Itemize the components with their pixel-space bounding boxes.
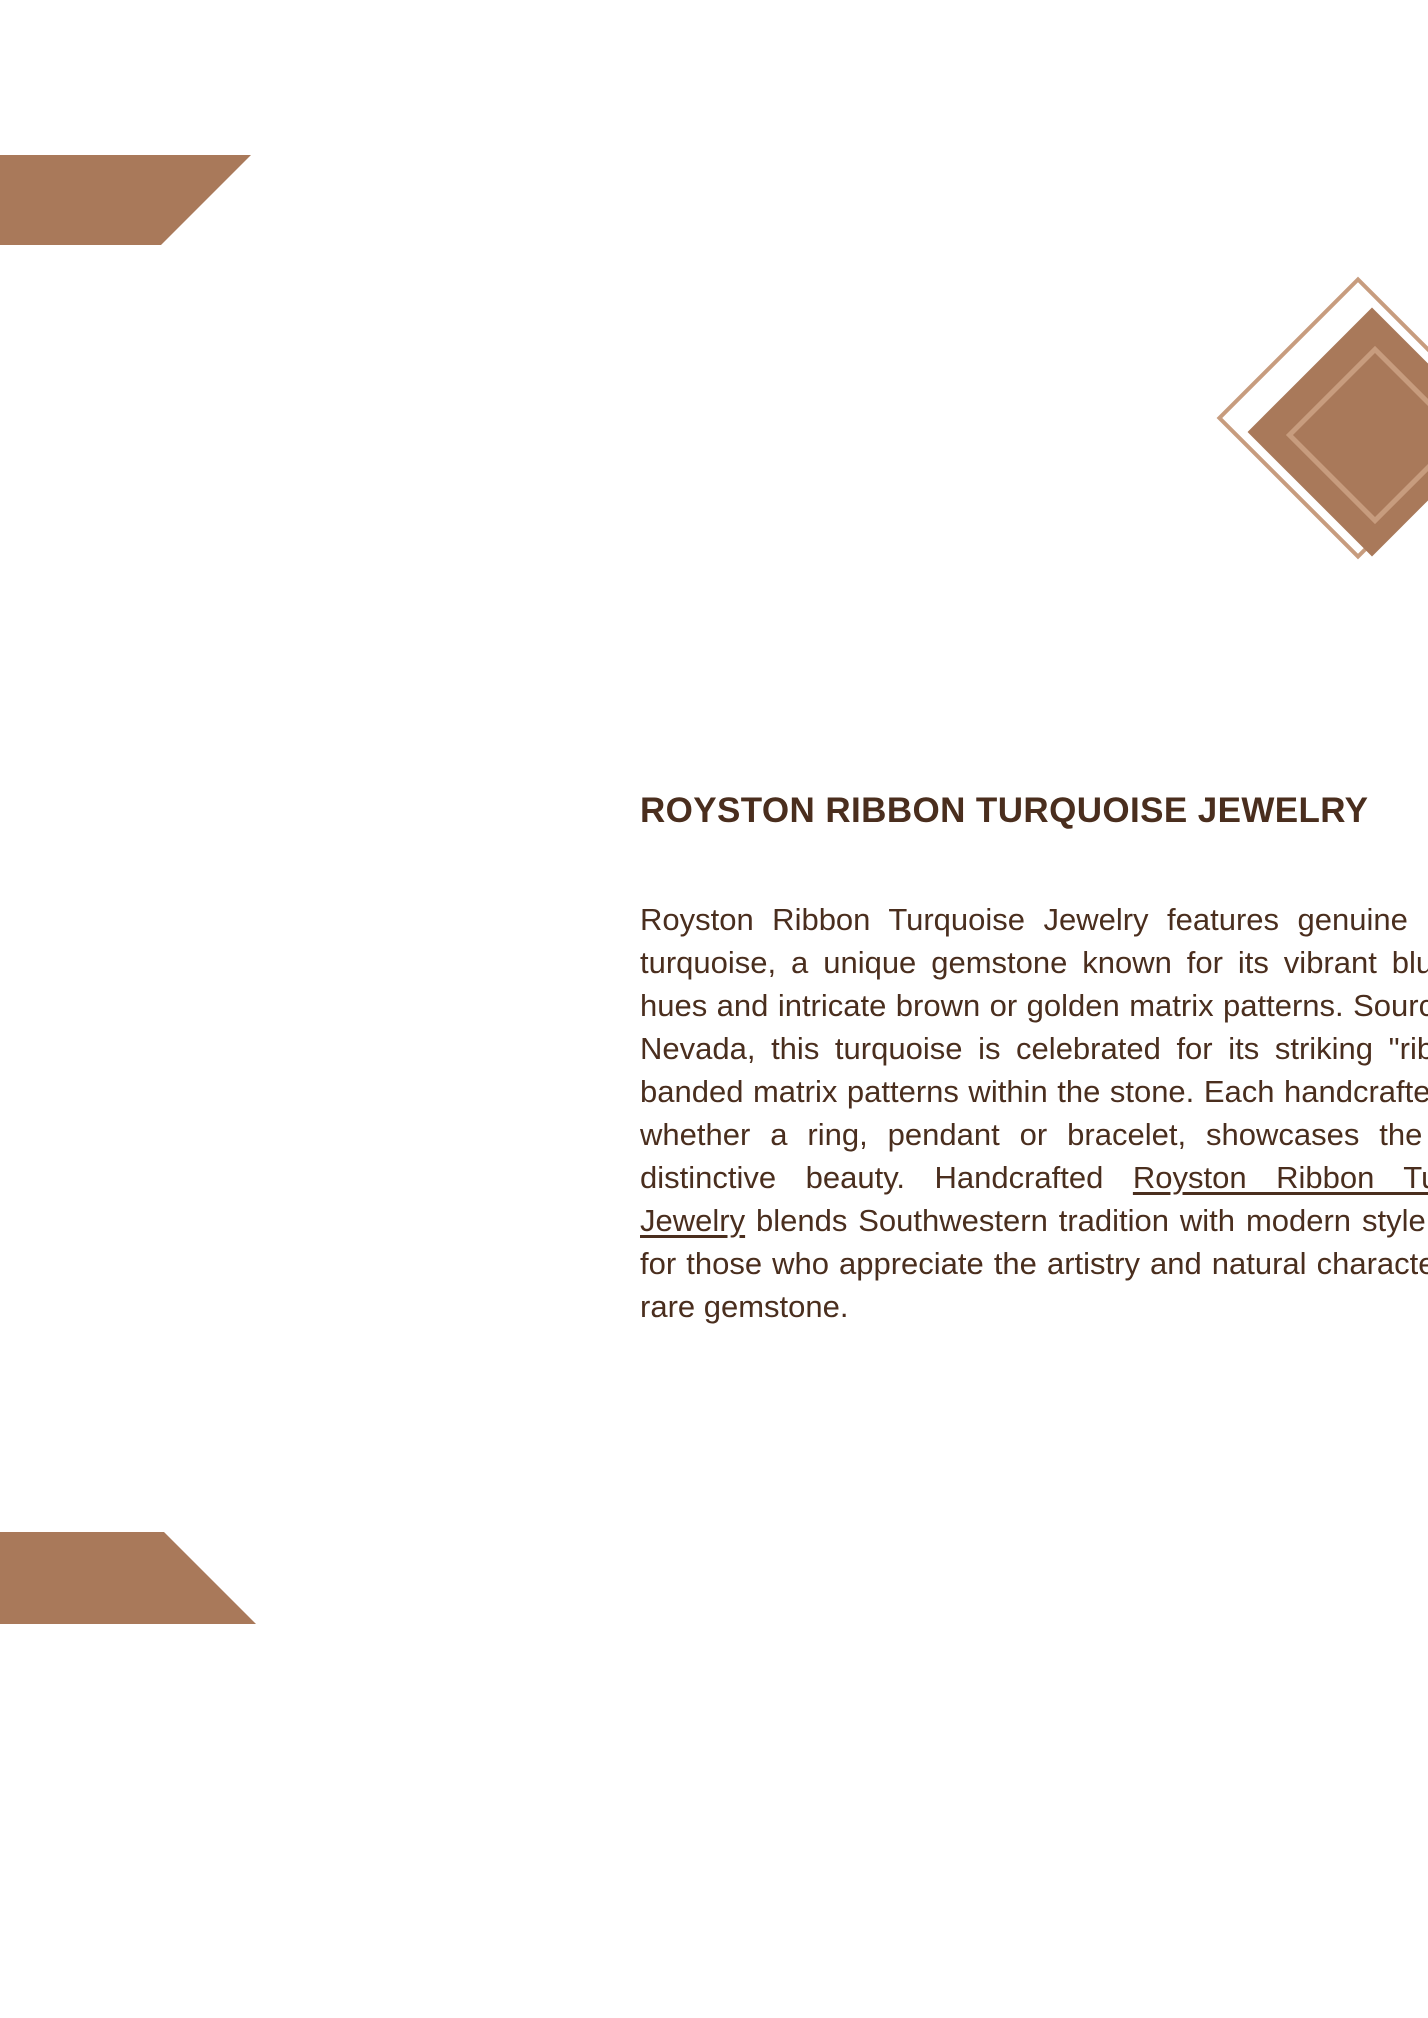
diamond-solid-icon [1248, 308, 1428, 557]
document-page: ROYSTON RIBBON TURQUOISE JEWELRY Royston… [0, 0, 1428, 2018]
paragraph-text-after-link: blends Southwestern tradition with moder… [640, 1203, 1428, 1324]
decorative-ribbon-bottom-left [0, 1532, 256, 1624]
diamond-outline-inner-icon [1286, 346, 1428, 524]
content-block: ROYSTON RIBBON TURQUOISE JEWELRY Royston… [640, 790, 1428, 1328]
page-title: ROYSTON RIBBON TURQUOISE JEWELRY [640, 790, 1428, 832]
diamond-emblem [1230, 290, 1428, 620]
body-paragraph: Royston Ribbon Turquoise Jewelry feature… [640, 832, 1428, 1328]
decorative-ribbon-top-left [0, 155, 251, 245]
diamond-outline-outer-icon [1217, 277, 1428, 560]
paragraph-text-before-link: Royston Ribbon Turquoise Jewelry feature… [640, 902, 1428, 1195]
